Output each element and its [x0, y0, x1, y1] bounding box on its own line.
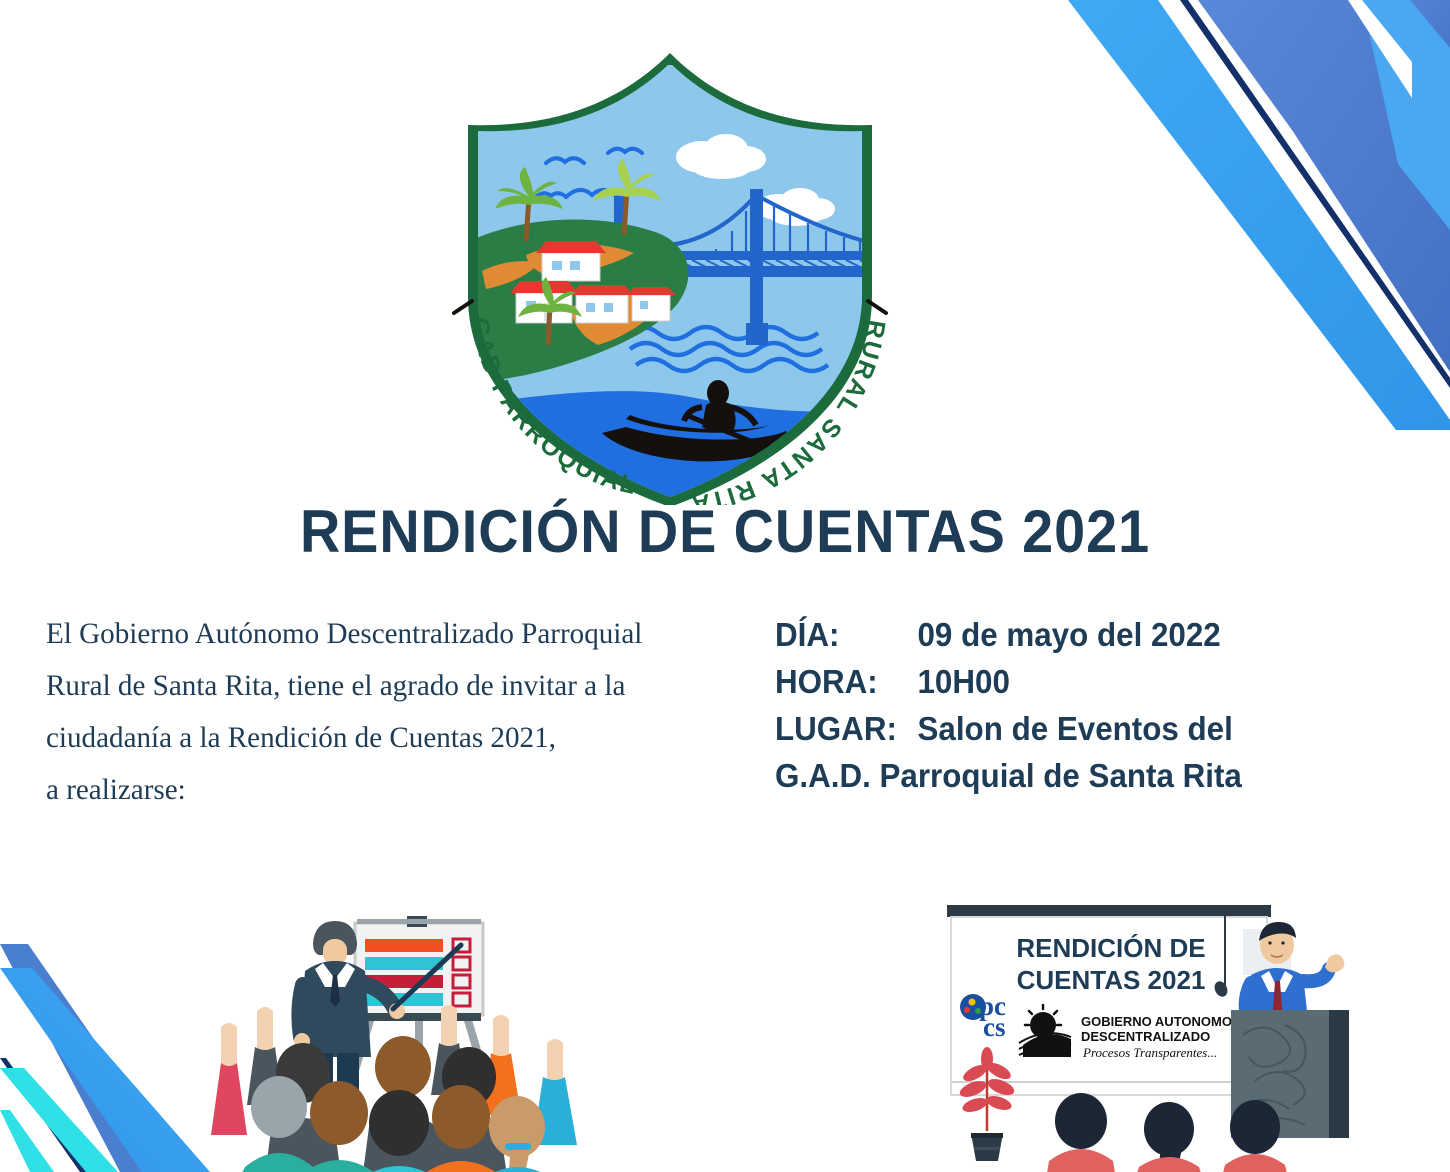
logo-gad-line1: GOBIERNO AUTONOMO [1081, 1014, 1232, 1029]
screen-title-line1: RENDICIÓN DE [1016, 933, 1205, 963]
illustration-accountability-presentation: RENDICIÓN DE CUENTAS 2021 pc cs [925, 885, 1365, 1172]
emblem-shield: GAD PARROQUIAL RURAL SANTA RITA [430, 45, 910, 505]
detail-value-dia: 09 de mayo del 2022 [918, 612, 1221, 659]
detail-value-hora: 10H00 [918, 659, 1010, 706]
detail-label-hora: HORA: [775, 659, 918, 706]
svg-text:cs: cs [983, 1012, 1006, 1042]
logo-gad-line2: DESCENTRALIZADO [1081, 1029, 1210, 1044]
decorative-stripes-top-right [1030, 0, 1450, 430]
decorative-stripes-right-edge [1150, 0, 1450, 340]
event-details: DÍA: 09 de mayo del 2022 HORA: 10H00 LUG… [775, 612, 1364, 799]
invitation-text: El Gobierno Autónomo Descentralizado Par… [46, 608, 715, 816]
detail-row-dia: DÍA: 09 de mayo del 2022 [775, 612, 1364, 659]
illustration-presentation-audience [185, 895, 605, 1172]
screen-title-line2: CUENTAS 2021 [1017, 965, 1206, 995]
poster-canvas: GAD PARROQUIAL RURAL SANTA RITA RENDICIÓ… [0, 0, 1450, 1172]
invitation-line: ciudadanía a la Rendición de Cuentas 202… [46, 712, 715, 764]
detail-value-lugar: Salon de Eventos del [918, 706, 1233, 753]
invitation-line: a realizarse: [46, 764, 715, 816]
page-title: RENDICIÓN DE CUENTAS 2021 [51, 497, 1400, 566]
logo-gad-tagline: Procesos Transparentes... [1082, 1045, 1217, 1060]
invitation-line: El Gobierno Autónomo Descentralizado Par… [46, 608, 715, 660]
audience-row [1047, 1093, 1287, 1172]
detail-row-lugar: LUGAR: Salon de Eventos del [775, 706, 1364, 753]
invitation-line: Rural de Santa Rita, tiene el agrado de … [46, 660, 715, 712]
detail-label-lugar: LUGAR: [775, 706, 918, 753]
detail-value-lugar-continuation: G.A.D. Parroquial de Santa Rita [775, 753, 1364, 800]
detail-row-hora: HORA: 10H00 [775, 659, 1364, 706]
raised-hand [211, 1023, 247, 1135]
detail-label-dia: DÍA: [775, 612, 918, 659]
